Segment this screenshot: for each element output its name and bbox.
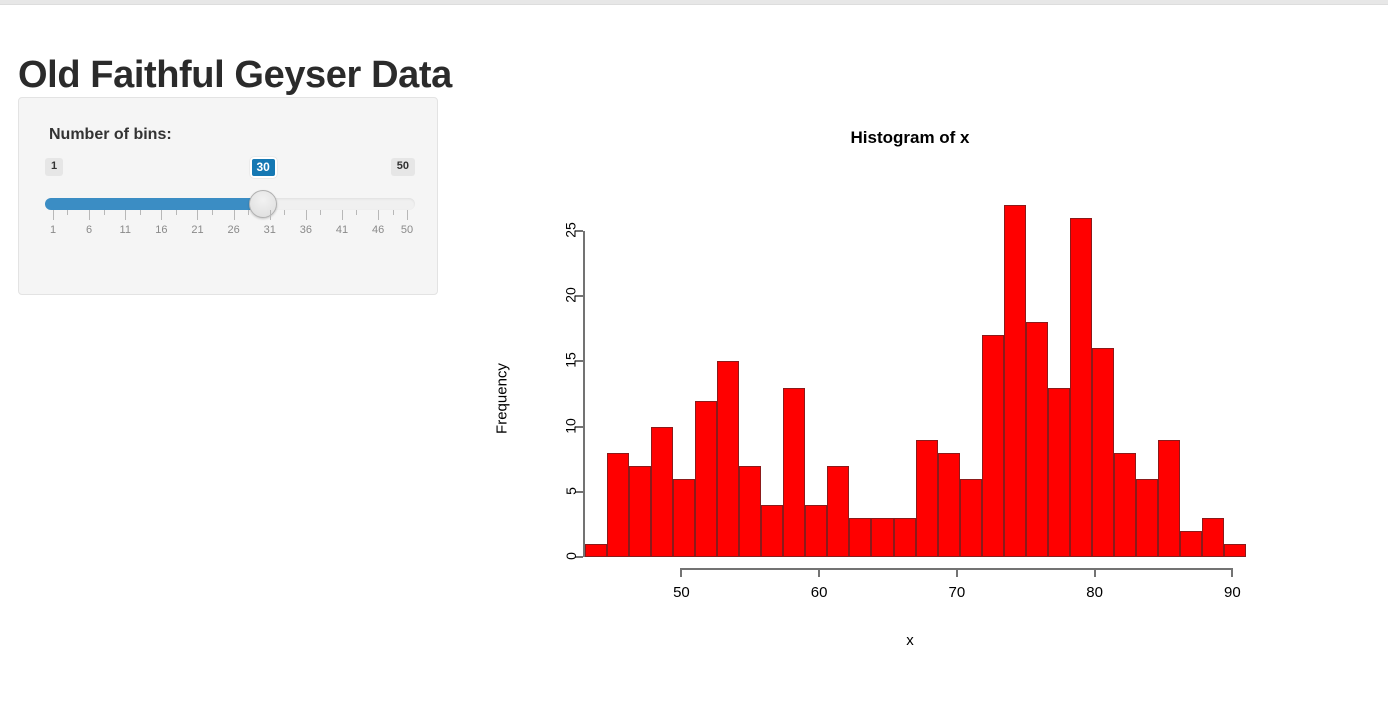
plot-title: Histogram of x (460, 128, 1360, 148)
slider-tick (356, 210, 357, 215)
histogram-bars (585, 205, 1315, 557)
slider-tick-marks (45, 210, 415, 222)
x-axis-tick (1094, 568, 1096, 577)
slider-tick-label: 31 (264, 224, 276, 236)
slider-tick-label: 11 (120, 224, 131, 236)
histogram-bar (1224, 544, 1246, 557)
histogram-plot: Histogram of x Frequency x 0510152025 50… (460, 100, 1360, 680)
slider-tick (197, 210, 198, 220)
slider-tick (306, 210, 307, 220)
slider-tick-label: 41 (336, 224, 348, 236)
x-axis-tick (1231, 568, 1233, 577)
histogram-bar (783, 388, 805, 557)
x-axis-tick (956, 568, 958, 577)
slider-tick (212, 210, 213, 215)
slider-tick (89, 210, 90, 220)
top-divider (0, 0, 1388, 5)
histogram-bar (629, 466, 651, 557)
y-axis-tick-label: 25 (563, 222, 579, 238)
histogram-bar (982, 335, 1004, 557)
x-axis-tick (818, 568, 820, 577)
page-title: Old Faithful Geyser Data (18, 55, 452, 97)
slider-tick (248, 210, 249, 215)
slider-tick (234, 210, 235, 220)
slider-tick-label: 6 (86, 224, 92, 236)
slider-fill (45, 198, 263, 210)
slider-tick (378, 210, 379, 220)
slider-tick (270, 210, 271, 220)
slider-tick (161, 210, 162, 220)
x-axis-tick (680, 568, 682, 577)
slider-min-label: 1 (45, 158, 63, 176)
x-axis-tick-label: 70 (949, 584, 966, 601)
histogram-bar (871, 518, 893, 557)
histogram-bar (1136, 479, 1158, 557)
slider-tick-label: 46 (372, 224, 384, 236)
histogram-bar (607, 453, 629, 557)
x-axis: 5060708090 (585, 568, 1315, 608)
x-axis-tick-label: 50 (673, 584, 690, 601)
y-axis-tick-label: 5 (563, 487, 579, 495)
slider-tick-label: 16 (155, 224, 167, 236)
bins-label: Number of bins: (49, 126, 172, 144)
y-axis-label: Frequency (494, 329, 511, 469)
histogram-bar (717, 361, 739, 557)
histogram-bar (916, 440, 938, 557)
histogram-bar (1070, 218, 1092, 557)
histogram-bar (1048, 388, 1070, 557)
bins-slider[interactable]: 1 50 30 16111621263136414650 (45, 158, 415, 248)
histogram-bar (673, 479, 695, 557)
histogram-bar (960, 479, 982, 557)
slider-value-bubble: 30 (250, 157, 277, 178)
x-axis-tick-label: 90 (1224, 584, 1241, 601)
slider-tick (342, 210, 343, 220)
sidebar-panel: Number of bins: 1 50 30 1611162126313641… (18, 97, 438, 295)
y-axis-tick-label: 0 (563, 552, 579, 560)
slider-tick (320, 210, 321, 215)
y-axis-tick-label: 10 (563, 418, 579, 434)
slider-tick-labels: 16111621263136414650 (45, 224, 415, 240)
histogram-bar (827, 466, 849, 557)
slider-tick (104, 210, 105, 215)
slider-tick (393, 210, 394, 215)
histogram-bar (894, 518, 916, 557)
histogram-bar (1026, 322, 1048, 557)
histogram-bar (1004, 205, 1026, 557)
slider-tick-label: 36 (300, 224, 312, 236)
histogram-bar (849, 518, 871, 557)
slider-tick-label: 21 (191, 224, 203, 236)
slider-tick (140, 210, 141, 215)
slider-tick (407, 210, 408, 220)
y-axis: 0510152025 (555, 205, 585, 557)
histogram-bar (739, 466, 761, 557)
x-axis-tick-label: 80 (1086, 584, 1103, 601)
histogram-bar (1202, 518, 1224, 557)
slider-tick (67, 210, 68, 215)
slider-tick-label: 50 (401, 224, 413, 236)
histogram-bar (1180, 531, 1202, 557)
histogram-bar (938, 453, 960, 557)
histogram-bar (1114, 453, 1136, 557)
x-axis-tick-label: 60 (811, 584, 828, 601)
y-axis-tick-label: 20 (563, 287, 579, 303)
slider-tick-label: 1 (50, 224, 56, 236)
histogram-bar (761, 505, 783, 557)
slider-tick (176, 210, 177, 215)
y-axis-tick-label: 15 (563, 353, 579, 369)
histogram-bar (585, 544, 607, 557)
histogram-bar (1092, 348, 1114, 557)
slider-tick (53, 210, 54, 220)
histogram-bar (651, 427, 673, 557)
slider-tick (125, 210, 126, 220)
histogram-bar (1158, 440, 1180, 557)
histogram-bar (805, 505, 827, 557)
slider-max-label: 50 (391, 158, 415, 176)
slider-tick (284, 210, 285, 215)
slider-tick-label: 26 (227, 224, 239, 236)
x-axis-label: x (460, 632, 1360, 649)
histogram-bar (695, 401, 717, 557)
